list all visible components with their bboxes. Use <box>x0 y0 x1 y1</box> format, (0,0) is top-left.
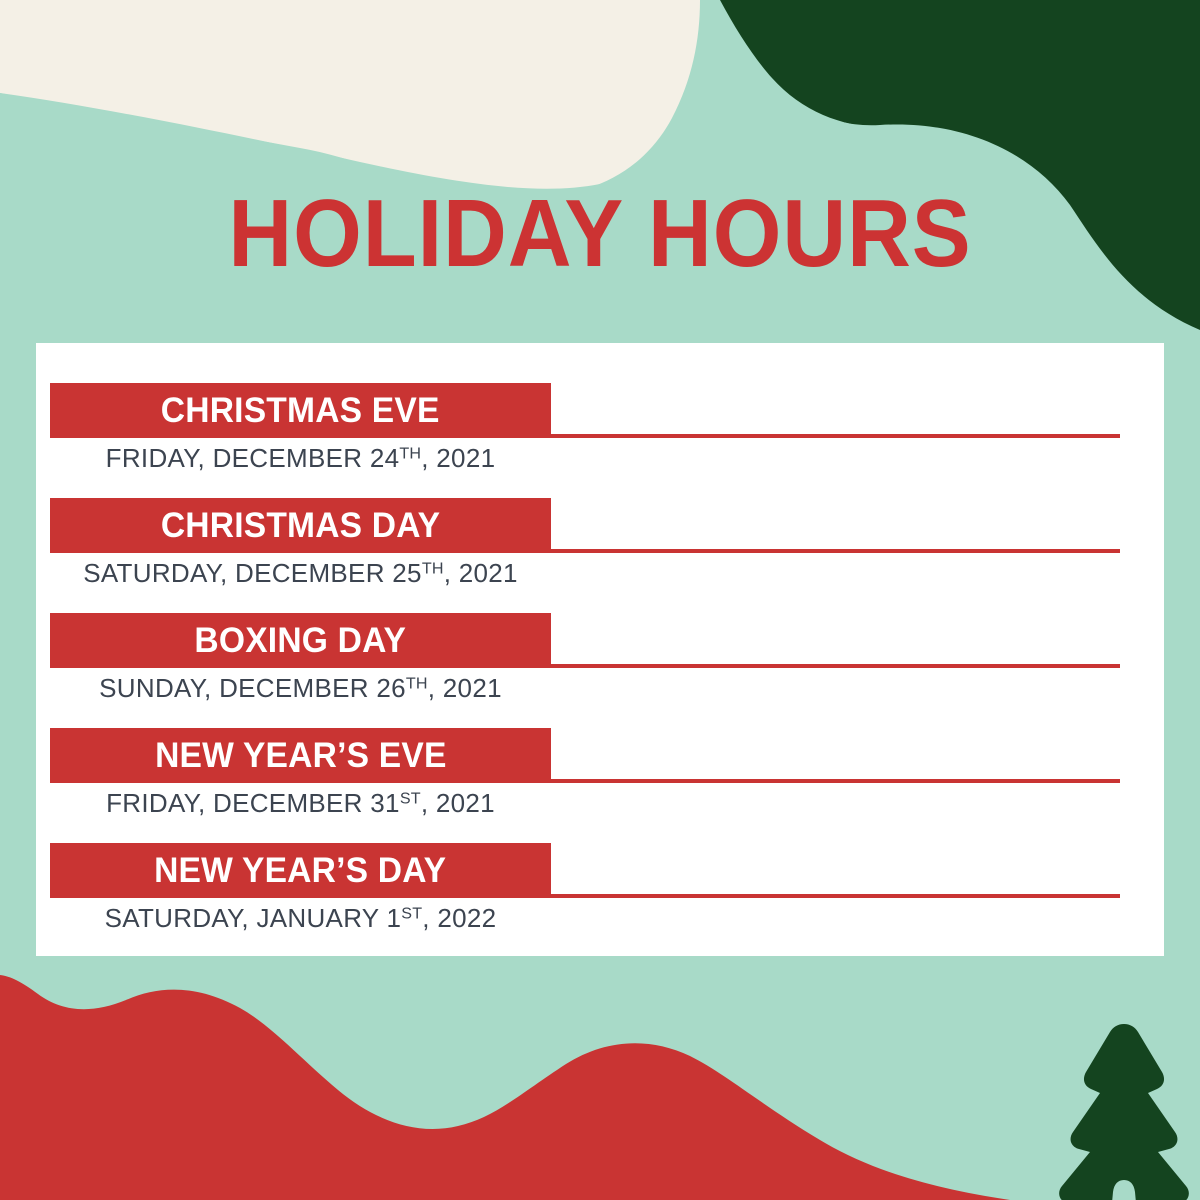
schedule-row: NEW YEAR’S EVE FRIDAY, DECEMBER 31ST, 20… <box>36 728 1164 843</box>
date-prefix: SUNDAY, DECEMBER 26 <box>99 673 406 703</box>
holiday-banner: NEW YEAR’S EVE <box>50 728 551 783</box>
date-ordinal: ST <box>400 790 421 808</box>
hours-rule-line <box>551 894 1120 898</box>
holiday-date: FRIDAY, DECEMBER 24TH, 2021 <box>50 441 551 476</box>
red-wave-shape <box>0 975 1010 1200</box>
date-suffix: , 2021 <box>428 673 502 703</box>
date-ordinal: ST <box>401 905 422 923</box>
date-prefix: FRIDAY, DECEMBER 31 <box>106 788 400 818</box>
holiday-banner: CHRISTMAS EVE <box>50 383 551 438</box>
holiday-banner: NEW YEAR’S DAY <box>50 843 551 898</box>
page-title: HOLIDAY HOURS <box>48 186 1152 282</box>
date-ordinal: TH <box>406 675 428 693</box>
date-suffix: , 2022 <box>422 903 496 933</box>
holiday-date: SUNDAY, DECEMBER 26TH, 2021 <box>50 671 551 706</box>
date-suffix: , 2021 <box>421 788 495 818</box>
holiday-name: CHRISTMAS DAY <box>161 508 440 543</box>
date-ordinal: TH <box>399 445 421 463</box>
holiday-date: SATURDAY, JANUARY 1ST, 2022 <box>50 901 551 936</box>
schedule-card: CHRISTMAS EVE FRIDAY, DECEMBER 24TH, 202… <box>36 343 1164 956</box>
holiday-name: NEW YEAR’S EVE <box>155 738 446 773</box>
schedule-row: NEW YEAR’S DAY SATURDAY, JANUARY 1ST, 20… <box>36 843 1164 958</box>
cream-blob-shape <box>0 0 700 196</box>
date-suffix: , 2021 <box>421 443 495 473</box>
date-prefix: SATURDAY, JANUARY 1 <box>105 903 402 933</box>
holiday-name: NEW YEAR’S DAY <box>154 853 446 888</box>
holiday-date: SATURDAY, DECEMBER 25TH, 2021 <box>50 556 551 591</box>
schedule-row: BOXING DAY SUNDAY, DECEMBER 26TH, 2021 <box>36 613 1164 728</box>
date-ordinal: TH <box>422 560 444 578</box>
hours-rule-line <box>551 549 1120 553</box>
schedule-row: CHRISTMAS EVE FRIDAY, DECEMBER 24TH, 202… <box>36 383 1164 498</box>
holiday-name: CHRISTMAS EVE <box>161 393 440 428</box>
holiday-date: FRIDAY, DECEMBER 31ST, 2021 <box>50 786 551 821</box>
date-prefix: FRIDAY, DECEMBER 24 <box>106 443 400 473</box>
date-suffix: , 2021 <box>444 558 518 588</box>
holiday-banner: CHRISTMAS DAY <box>50 498 551 553</box>
holiday-hours-poster: HOLIDAY HOURS CHRISTMAS EVE FRIDAY, DECE… <box>0 0 1200 1200</box>
date-prefix: SATURDAY, DECEMBER 25 <box>83 558 422 588</box>
holiday-banner: BOXING DAY <box>50 613 551 668</box>
hours-rule-line <box>551 779 1120 783</box>
christmas-tree-icon <box>1059 1024 1189 1200</box>
schedule-row: CHRISTMAS DAY SATURDAY, DECEMBER 25TH, 2… <box>36 498 1164 613</box>
hours-rule-line <box>551 434 1120 438</box>
holiday-name: BOXING DAY <box>195 623 407 658</box>
hours-rule-line <box>551 664 1120 668</box>
